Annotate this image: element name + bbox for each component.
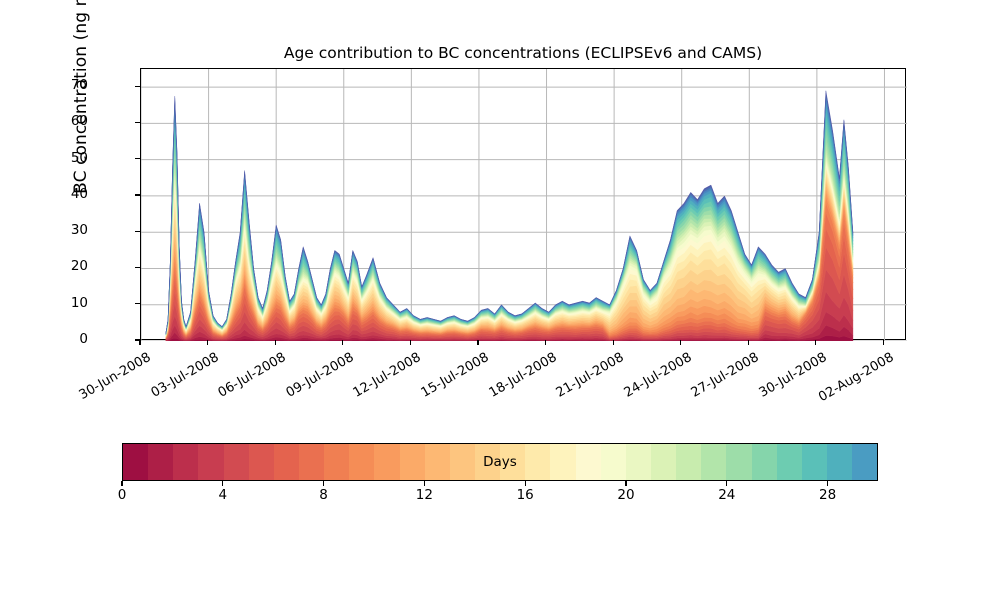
y-tick-label: 40	[28, 186, 88, 202]
colorbar-band-20	[626, 444, 651, 480]
colorbar-band-1	[148, 444, 173, 480]
colorbar-tick-mark	[222, 481, 223, 486]
chart-root: Age contribution to BC concentrations (E…	[0, 0, 1000, 600]
colorbar-band-25	[752, 444, 777, 480]
x-tick-mark	[139, 340, 140, 345]
y-tick-mark	[135, 267, 140, 268]
y-tick-mark	[135, 303, 140, 304]
x-tick-mark	[883, 340, 884, 345]
colorbar-band-9	[349, 444, 374, 480]
colorbar-band-8	[324, 444, 349, 480]
stacked-area-plot	[141, 69, 907, 341]
x-tick-mark	[410, 340, 411, 345]
colorbar-tick-label: 24	[707, 487, 747, 503]
x-tick-mark	[748, 340, 749, 345]
colorbar-band-16	[525, 444, 550, 480]
colorbar-band-15	[500, 444, 525, 480]
y-tick-label: 50	[28, 150, 88, 166]
colorbar-tick-label: 8	[304, 487, 344, 503]
plot-area	[140, 68, 906, 340]
colorbar-tick-label: 28	[808, 487, 848, 503]
colorbar-band-28	[827, 444, 852, 480]
y-tick-mark	[135, 231, 140, 232]
colorbar-gradient[interactable]	[122, 443, 878, 481]
colorbar-band-11	[400, 444, 425, 480]
x-tick-mark	[342, 340, 343, 345]
y-tick-label: 10	[28, 295, 88, 311]
y-tick-mark	[135, 158, 140, 159]
colorbar[interactable]: Days	[122, 443, 878, 481]
colorbar-tick-label: 4	[203, 487, 243, 503]
colorbar-band-27	[802, 444, 827, 480]
x-tick-mark	[680, 340, 681, 345]
colorbar-band-13	[450, 444, 475, 480]
colorbar-band-4	[224, 444, 249, 480]
colorbar-tick-label: 16	[505, 487, 545, 503]
colorbar-band-23	[701, 444, 726, 480]
colorbar-band-29	[852, 444, 877, 480]
x-tick-mark	[477, 340, 478, 345]
colorbar-tick-mark	[827, 481, 828, 486]
y-tick-mark	[135, 86, 140, 87]
colorbar-tick-label: 12	[404, 487, 444, 503]
colorbar-tick-mark	[625, 481, 626, 486]
x-tick-mark	[545, 340, 546, 345]
colorbar-tick-mark	[726, 481, 727, 486]
y-tick-mark	[135, 194, 140, 195]
colorbar-band-21	[651, 444, 676, 480]
x-tick-mark	[613, 340, 614, 345]
y-tick-label: 70	[28, 77, 88, 93]
colorbar-band-5	[249, 444, 274, 480]
colorbar-band-26	[777, 444, 802, 480]
colorbar-band-18	[576, 444, 601, 480]
colorbar-band-10	[374, 444, 399, 480]
colorbar-tick-mark	[525, 481, 526, 486]
colorbar-band-12	[425, 444, 450, 480]
colorbar-tick-label: 0	[102, 487, 142, 503]
colorbar-tick-mark	[323, 481, 324, 486]
colorbar-band-19	[601, 444, 626, 480]
colorbar-band-3	[198, 444, 223, 480]
colorbar-tick-mark	[121, 481, 122, 486]
x-tick-mark	[207, 340, 208, 345]
x-tick-mark	[815, 340, 816, 345]
colorbar-band-17	[550, 444, 575, 480]
colorbar-band-14	[475, 444, 500, 480]
y-tick-label: 30	[28, 222, 88, 238]
colorbar-band-0	[123, 444, 148, 480]
y-tick-label: 60	[28, 113, 88, 129]
colorbar-tick-mark	[424, 481, 425, 486]
y-tick-mark	[135, 122, 140, 123]
colorbar-band-22	[676, 444, 701, 480]
y-tick-label: 0	[28, 331, 88, 347]
y-tick-label: 20	[28, 258, 88, 274]
x-tick-mark	[275, 340, 276, 345]
colorbar-band-7	[299, 444, 324, 480]
colorbar-band-6	[274, 444, 299, 480]
colorbar-band-2	[173, 444, 198, 480]
colorbar-tick-label: 20	[606, 487, 646, 503]
colorbar-band-24	[726, 444, 751, 480]
chart-title: Age contribution to BC concentrations (E…	[140, 44, 906, 62]
